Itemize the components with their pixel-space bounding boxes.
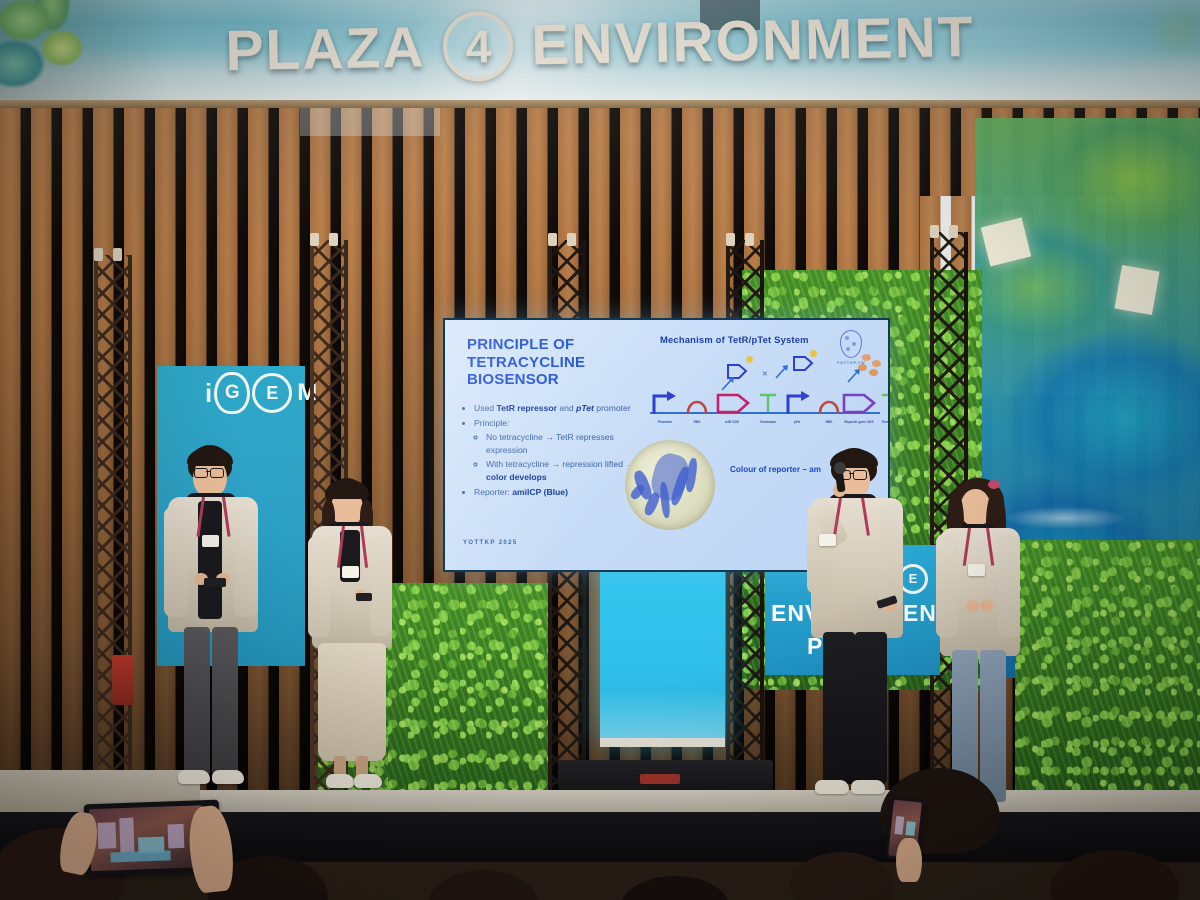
- stage-light-panel: [600, 560, 725, 745]
- audience-head-4: [620, 876, 730, 900]
- ptet-promoter-glyph: [786, 390, 812, 416]
- reporter-protein-blob: [872, 360, 881, 367]
- bullet-reporter: Reporter: amilCP (Blue): [474, 486, 638, 499]
- presenter-4-hair-tie: [988, 480, 1000, 489]
- petri-dish-photo: [625, 440, 715, 530]
- promoter-glyph: [652, 390, 678, 416]
- presenter-3-shoe-right: [851, 780, 885, 794]
- igem-gear-glyph: E: [252, 373, 292, 413]
- presenter-1-leg-left: [184, 627, 210, 775]
- reporter-protein-blob: [869, 369, 878, 376]
- slide-title-line-2: TETRACYCLINE: [467, 354, 627, 372]
- igem-cell-glyph: G: [214, 372, 250, 414]
- audience-head-3: [428, 870, 538, 900]
- presenter-2-cue-card: [356, 593, 372, 601]
- fire-extinguisher: [112, 655, 134, 705]
- bullet-used-tetr: Used TetR repressor and pTet promoter: [474, 402, 638, 415]
- expression-arrow-1: [720, 376, 736, 392]
- slide-title: PRINCIPLE OF TETRACYCLINE BIOSENSOR: [467, 336, 627, 389]
- bullet-italic-ptet: pTet: [576, 403, 594, 413]
- slide-bullet-list: Used TetR repressor and pTet promoter Pr…: [463, 402, 638, 500]
- sub-bullet-bold-color-develops: color develops: [486, 472, 547, 482]
- stage-light-fixture: [1114, 265, 1159, 315]
- phone-screen-left: [89, 805, 204, 871]
- venue-banner: PLAZA 4 ENVIRONMENT: [0, 0, 1200, 100]
- presenter-1-badge: [202, 535, 219, 547]
- presenter-4-hand-left: [966, 600, 979, 612]
- presenter-3-glasses-right: [853, 470, 867, 480]
- presenter-1-glasses-bridge: [206, 471, 210, 472]
- presenter-2-badge: [342, 566, 359, 578]
- induction-arrow: [774, 364, 790, 380]
- reporter-cds-glyph: [842, 390, 876, 416]
- rbs-glyph-1: [686, 400, 708, 414]
- sub-bullet-no-tetracycline: No tetracycline → TetR represses express…: [486, 431, 638, 457]
- microphone-head: [834, 462, 846, 474]
- presenter-4-badge: [968, 564, 985, 576]
- banner-word-environment: ENVIRONMENT: [531, 4, 975, 78]
- repression-cross-mark: ✕: [762, 370, 768, 378]
- presenter-1-arm-left: [164, 507, 188, 617]
- presenter-1: [160, 445, 270, 810]
- presenter-4-arm-right: [998, 534, 1020, 638]
- glyph-label-terminator-2: Terminator: [874, 420, 890, 424]
- rbs-glyph-2: [818, 400, 840, 414]
- presenter-3-badge: [819, 534, 836, 546]
- equipment-indicator: [640, 774, 680, 784]
- audience-hand-phone-right: [896, 838, 922, 882]
- presenter-1-glasses-right: [210, 468, 224, 478]
- tetr-cds-glyph: [716, 390, 750, 416]
- reporter-protein-blob: [858, 364, 867, 371]
- panel-base-strip: [600, 738, 725, 747]
- bullet-principle: Principle: No tetracycline → TetR repres…: [474, 417, 638, 485]
- reporter-protein-blob: [862, 354, 871, 361]
- presenter-2-shoe-right: [354, 774, 382, 788]
- presenter-2-arm-left: [308, 536, 330, 638]
- slide-footer-team-year: YOTTKP 2025: [463, 540, 518, 546]
- terminator-glyph-2: [880, 392, 890, 414]
- tetracycline-molecule-2: [810, 350, 817, 357]
- presenter-3-leg-right: [855, 632, 887, 784]
- presenter-3-shoe-left: [815, 780, 849, 794]
- presenter-2-shoe-left: [326, 774, 354, 788]
- moss-wall-far-right: [1015, 540, 1200, 790]
- presenter-1-clicker: [204, 578, 226, 587]
- presenter-1-fringe: [187, 447, 233, 466]
- slide-title-line-1: PRINCIPLE OF: [467, 336, 627, 354]
- presenter-1-arm-right: [234, 507, 258, 617]
- presenter-2-skirt: [318, 643, 386, 761]
- presenter-4-leg-right: [980, 650, 1006, 802]
- presenter-3-arm-right: [879, 504, 903, 608]
- presenter-4-arm-left: [936, 534, 958, 638]
- presenter-3-glasses-bridge: [849, 473, 853, 474]
- presenter-3-leg-left: [823, 632, 855, 784]
- bullet-text-mid: and: [557, 403, 576, 413]
- truss-tower-left: [94, 255, 132, 800]
- glyph-label-ptet: pTet: [784, 420, 810, 424]
- tetracycline-molecule-1: [746, 356, 753, 363]
- bullet-principle-label: Principle:: [474, 418, 509, 428]
- presenter-3: [805, 448, 910, 818]
- presenter-4-hand-right: [980, 600, 993, 612]
- presenter-4: [930, 478, 1030, 813]
- presenter-1-shoe-left: [178, 770, 210, 784]
- conference-stage-photo: PLAZA 4 ENVIRONMENT i G E M: [0, 0, 1200, 900]
- presenter-1-glasses-left: [194, 468, 208, 478]
- presenter-2-arm-right: [370, 536, 392, 636]
- terminator-glyph-1: [758, 392, 778, 414]
- presenter-2-fringe: [325, 479, 369, 499]
- presenter-1-shoe-right: [212, 770, 244, 784]
- sbol-genetic-construct-diagram: Promoter RBS tetR CDS Terminator pTet: [650, 350, 880, 440]
- bullet-bold-tetr-repressor: TetR repressor: [496, 403, 557, 413]
- sub-bullet-with-tetracycline: With tetracycline → repression lifted → …: [486, 458, 638, 484]
- igem-logo-side: i G E M: [205, 372, 317, 414]
- bullet-bold-amilcp: amilCP (Blue): [512, 487, 568, 497]
- slide-title-line-3: BIOSENSOR: [467, 371, 627, 389]
- bullet-text-pre: Used: [474, 403, 496, 413]
- bullet-text-post: promoter: [594, 403, 631, 413]
- glyph-label-rbs-1: RBS: [682, 420, 712, 424]
- igem-letter-i: i: [205, 378, 212, 409]
- banner-word-plaza: PLAZA: [225, 14, 426, 84]
- presenter-1-leg-right: [212, 627, 238, 775]
- glyph-label-tetr-cds: tetR CDS: [712, 420, 752, 424]
- sub-bullet-text: With tetracycline → repression lifted →: [486, 459, 634, 469]
- glyph-label-promoter: Promoter: [648, 420, 682, 424]
- tetr-protein-2: [792, 354, 814, 372]
- slide-diagram-title: Mechanism of TetR/pTet System: [660, 334, 809, 345]
- bullet-reporter-label: Reporter:: [474, 487, 512, 497]
- moss-wall-left: [382, 583, 552, 798]
- presenter-2: [300, 478, 405, 813]
- banner-number-badge: 4: [443, 11, 514, 82]
- presenter-1-jacket-opening: [198, 501, 222, 619]
- glyph-label-terminator-1: Terminator: [752, 420, 784, 424]
